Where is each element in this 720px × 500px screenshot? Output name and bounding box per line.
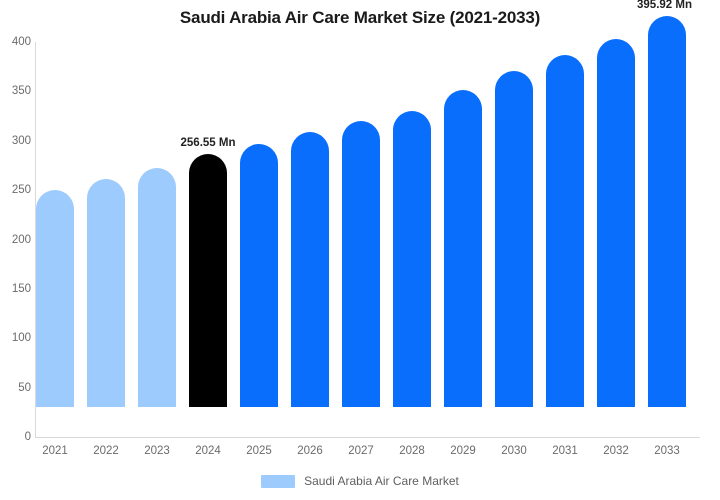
bar-2032[interactable] xyxy=(597,39,635,407)
y-axis-tick-label: 150 xyxy=(1,283,31,295)
y-axis-tick: 100 xyxy=(0,332,31,344)
y-axis-tick-label: 200 xyxy=(1,234,31,246)
bar-2026[interactable] xyxy=(291,132,329,407)
bar-2028[interactable] xyxy=(393,111,431,407)
bar-2022[interactable] xyxy=(87,179,125,407)
bar-2030[interactable] xyxy=(495,71,533,407)
x-axis-tick-label: 2028 xyxy=(393,445,431,457)
bar-group[interactable] xyxy=(240,144,278,407)
bar-group[interactable] xyxy=(291,132,329,407)
bar-value-label: 256.55 Mn xyxy=(181,137,236,149)
bar-value-label: 395.92 Mn xyxy=(637,0,692,11)
x-axis-tick-label: 2032 xyxy=(597,445,635,457)
y-axis-tick: 350 xyxy=(0,85,31,97)
y-axis-tick-label: 50 xyxy=(1,382,31,394)
y-axis-tick-label: 100 xyxy=(1,332,31,344)
bar-2025[interactable] xyxy=(240,144,278,407)
bar-group[interactable] xyxy=(342,121,380,407)
bar-group[interactable]: 395.92 Mn xyxy=(648,16,686,407)
y-axis-tick-label: 400 xyxy=(1,36,31,48)
y-axis-tick: 250 xyxy=(0,184,31,196)
bar-group[interactable] xyxy=(36,190,74,407)
bar-group[interactable] xyxy=(444,90,482,407)
x-axis-tick-label: 2030 xyxy=(495,445,533,457)
legend-swatch-icon xyxy=(261,475,295,488)
bar-group[interactable] xyxy=(495,71,533,407)
bar-group[interactable]: 256.55 Mn xyxy=(189,154,227,407)
x-axis-tick-label: 2021 xyxy=(36,445,74,457)
x-axis-tick-label: 2024 xyxy=(189,445,227,457)
x-axis-tick-label: 2022 xyxy=(87,445,125,457)
x-axis-tick-label: 2031 xyxy=(546,445,584,457)
bar-2024[interactable] xyxy=(189,154,227,407)
bar-group[interactable] xyxy=(138,168,176,407)
x-axis-line xyxy=(35,437,700,438)
bar-2031[interactable] xyxy=(546,55,584,407)
plot-area: 050100150200250300350400 256.55 Mn395.92… xyxy=(0,0,720,470)
y-axis-tick: 0 xyxy=(0,431,31,443)
x-axis-tick-label: 2033 xyxy=(648,445,686,457)
x-axis-tick-label: 2029 xyxy=(444,445,482,457)
y-axis-tick: 300 xyxy=(0,135,31,147)
y-axis-tick: 400 xyxy=(0,36,31,48)
y-axis-tick: 50 xyxy=(0,382,31,394)
chart-container: Saudi Arabia Air Care Market Size (2021-… xyxy=(0,0,720,500)
legend-item-label: Saudi Arabia Air Care Market xyxy=(304,474,459,488)
y-axis-tick-label: 250 xyxy=(1,184,31,196)
bar-group[interactable] xyxy=(87,179,125,407)
x-axis-tick-label: 2025 xyxy=(240,445,278,457)
bar-group[interactable] xyxy=(597,39,635,407)
y-axis-tick: 150 xyxy=(0,283,31,295)
bar-2033[interactable] xyxy=(648,16,686,407)
y-axis-tick: 200 xyxy=(0,234,31,246)
y-axis-tick-label: 300 xyxy=(1,135,31,147)
y-axis-tick-label: 0 xyxy=(1,431,31,443)
bar-2023[interactable] xyxy=(138,168,176,407)
chart-legend: Saudi Arabia Air Care Market xyxy=(0,474,720,488)
x-axis-tick-label: 2027 xyxy=(342,445,380,457)
bar-group[interactable] xyxy=(393,111,431,407)
x-axis-tick-label: 2026 xyxy=(291,445,329,457)
y-axis-tick-label: 350 xyxy=(1,85,31,97)
bar-2021[interactable] xyxy=(36,190,74,407)
x-axis-tick-label: 2023 xyxy=(138,445,176,457)
bar-2027[interactable] xyxy=(342,121,380,407)
bar-group[interactable] xyxy=(546,55,584,407)
bar-2029[interactable] xyxy=(444,90,482,407)
